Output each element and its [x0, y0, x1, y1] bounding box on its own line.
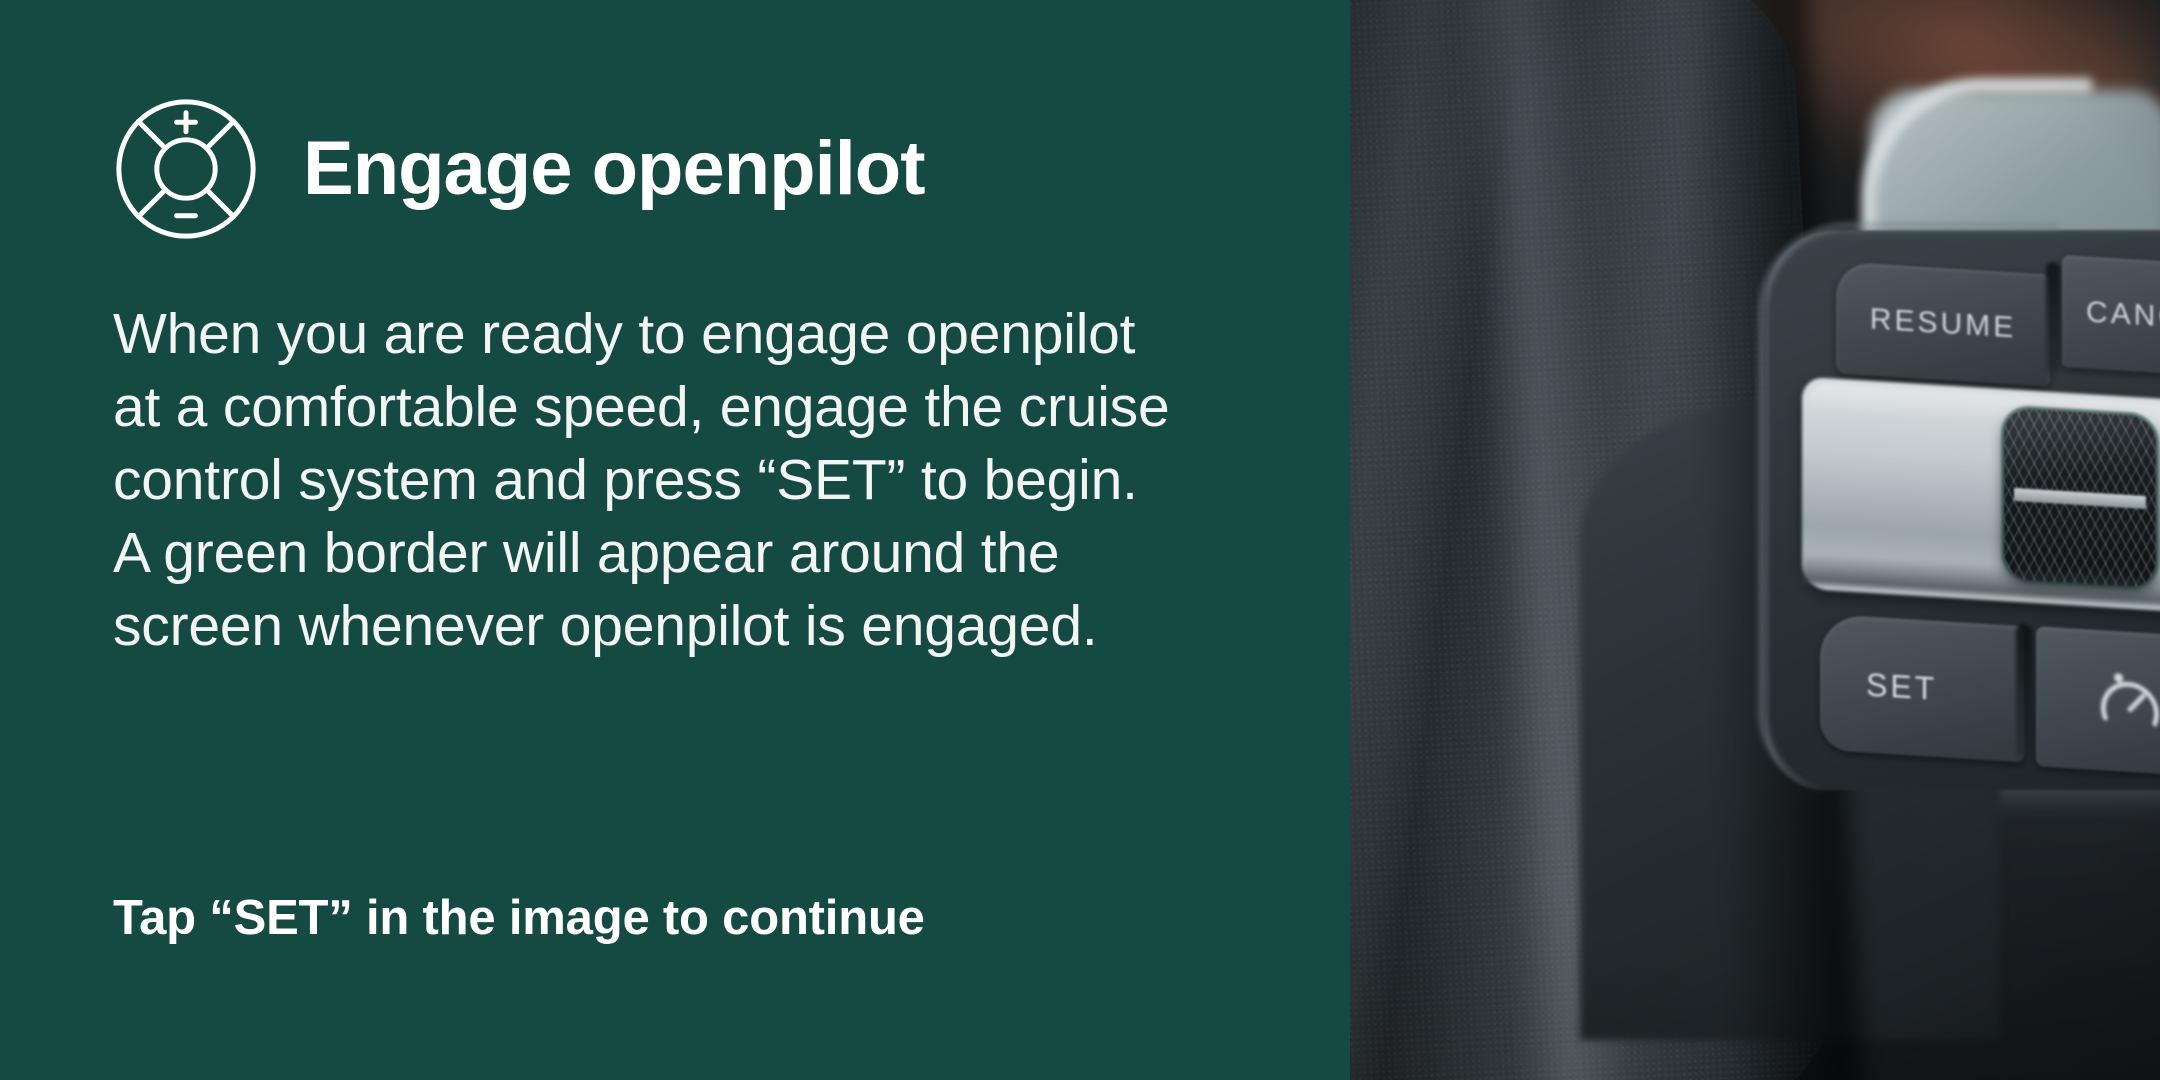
resume-button[interactable]: RESUME	[1836, 261, 2050, 386]
steering-wheel-cruise-control-photo[interactable]: RESUME CANCEL + − SET	[1350, 0, 2160, 1080]
instruction-body: When you are ready to engage openpilot a…	[113, 298, 1293, 663]
onboarding-screen: Engage openpilot When you are ready to e…	[0, 0, 2160, 1080]
page-title: Engage openpilot	[303, 131, 925, 207]
panel-header: Engage openpilot	[113, 96, 925, 242]
body-line: screen whenever openpilot is engaged.	[113, 590, 1293, 663]
cancel-button[interactable]: CANCEL	[2062, 255, 2160, 381]
cruise-control-icon	[113, 96, 259, 242]
body-line: at a comfortable speed, engage the cruis…	[113, 371, 1293, 444]
body-line: When you are ready to engage openpilot	[113, 298, 1293, 371]
body-line: A green border will appear around the	[113, 517, 1293, 590]
gap-distance-button[interactable]	[2036, 626, 2160, 777]
set-button[interactable]: SET	[1820, 614, 2024, 762]
button-divider	[2016, 624, 2032, 761]
gap-distance-icon	[2092, 659, 2160, 744]
call-to-action-text: Tap “SET” in the image to continue	[113, 890, 925, 946]
button-divider	[2046, 262, 2060, 375]
instruction-panel: Engage openpilot When you are ready to e…	[0, 0, 1350, 1080]
body-line: control system and press “SET” to begin.	[113, 444, 1293, 517]
